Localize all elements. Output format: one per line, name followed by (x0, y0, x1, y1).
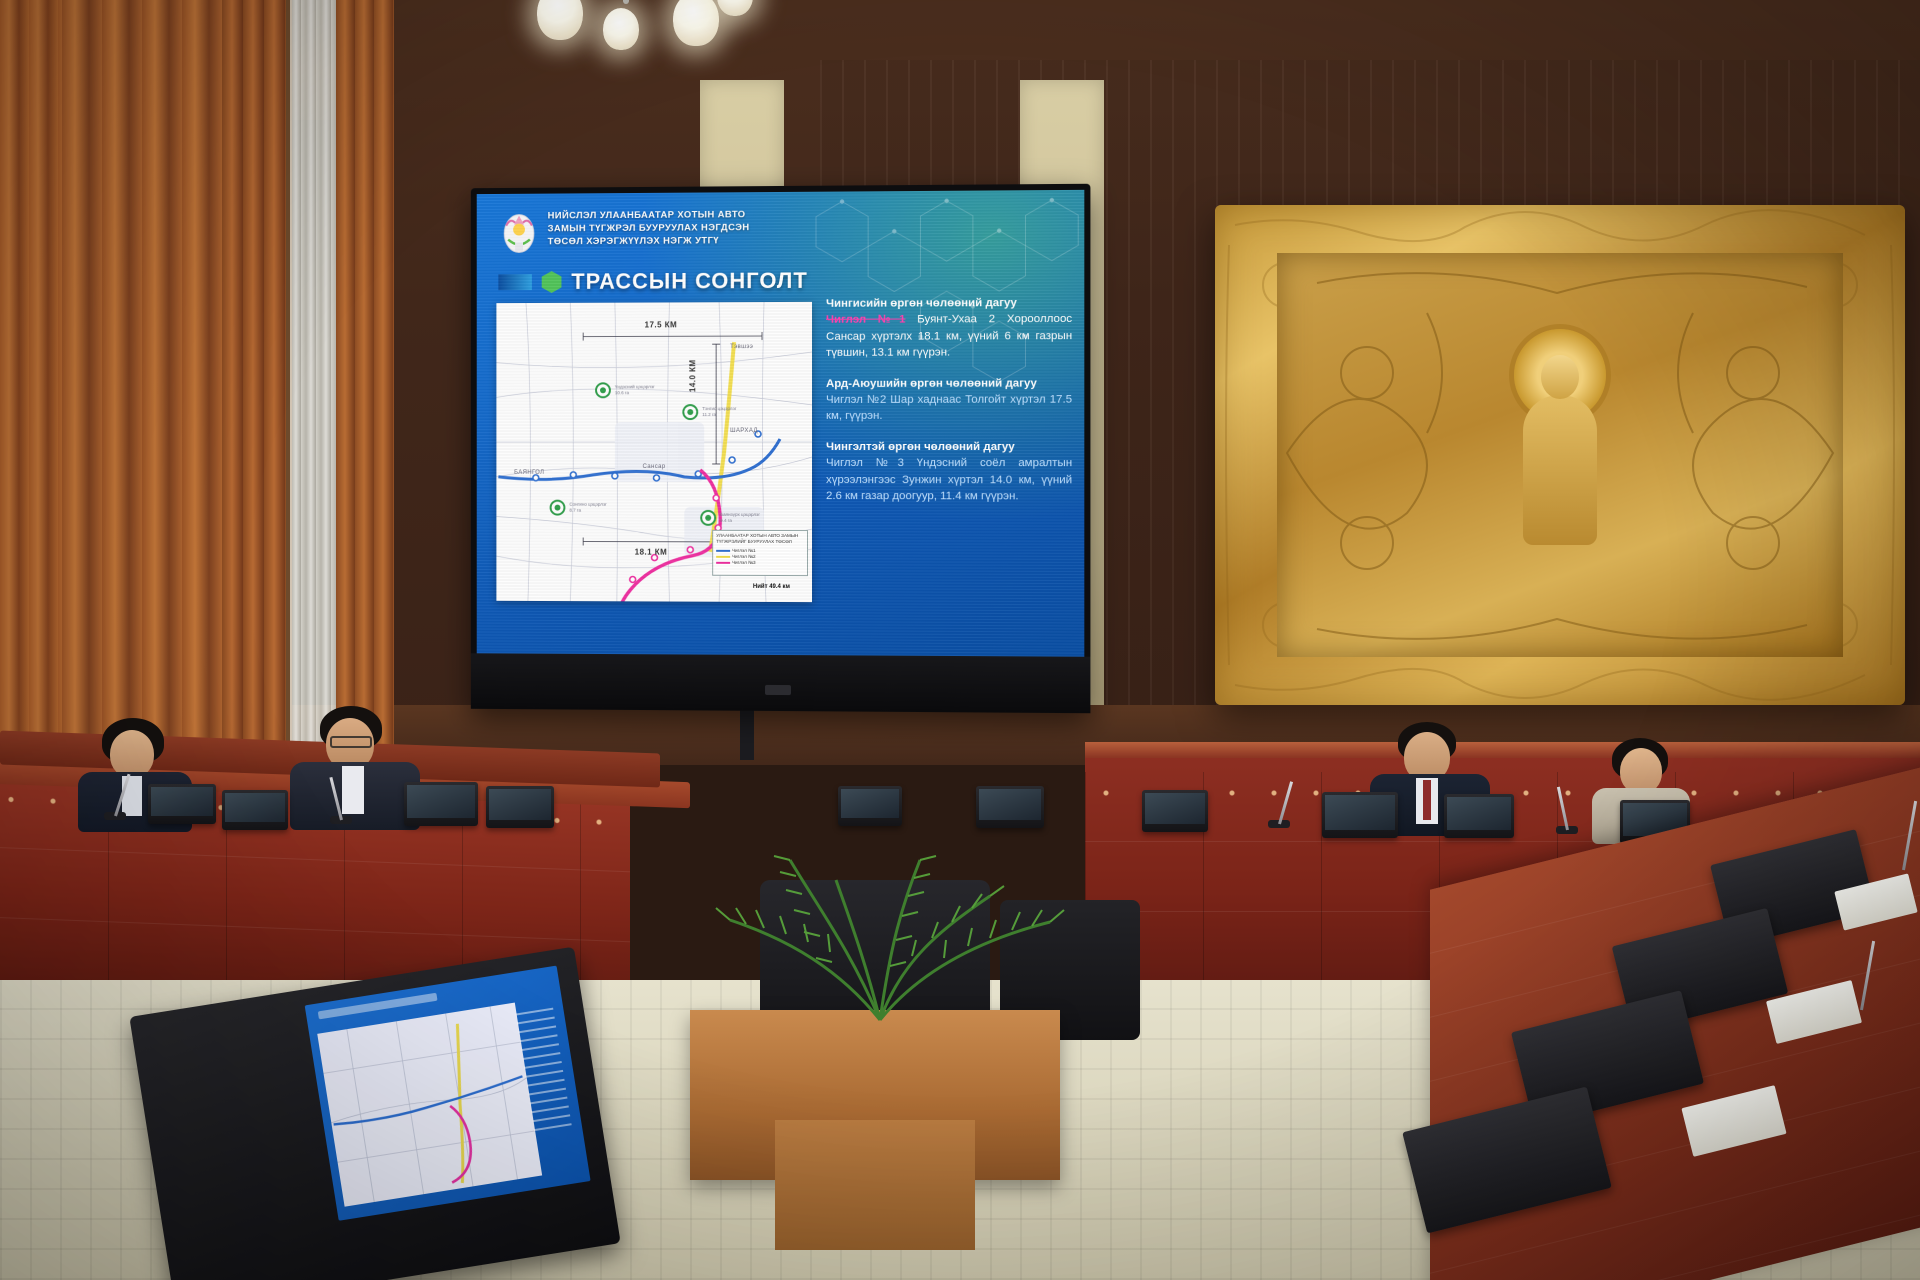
screen-brand-logo (765, 685, 791, 695)
shirt (342, 766, 364, 814)
lamp-bulb (603, 8, 639, 50)
section-1-strike-label: Чиглэл №1 (826, 314, 905, 326)
foreground-monitor-map (317, 1003, 542, 1207)
org-line-3: ТӨСӨЛ ХЭРЭГЖҮҮЛЭХ НЭГЖ УТГҮ (548, 234, 750, 248)
desk-monitor[interactable] (148, 784, 216, 824)
svg-text:8.7 га: 8.7 га (569, 508, 581, 513)
city-emblem-icon (500, 210, 537, 256)
title-accent-bar (498, 274, 531, 290)
svg-text:10.6 га: 10.6 га (615, 390, 630, 395)
necktie (1423, 780, 1431, 820)
svg-text:Тэнгис цэцэрлэг: Тэнгис цэцэрлэг (702, 406, 737, 411)
conference-hall-scene: НИЙСЛЭЛ УЛААНБААТАР ХОТЫН АВТО ЗАМЫН ТҮГ… (0, 0, 1920, 1280)
map-city-label: Тэвшээ (730, 344, 753, 350)
lamp-bulb (673, 0, 719, 46)
desk-monitor[interactable] (1142, 790, 1208, 832)
org-line-1: НИЙСЛЭЛ УЛААНБААТАР ХОТЫН АВТО (548, 208, 750, 222)
slide-header: НИЙСЛЭЛ УЛААНБААТАР ХОТЫН АВТО ЗАМЫН ТҮГ… (500, 208, 749, 255)
screen-bezel-chin (471, 653, 1091, 713)
lamp-bulb (717, 0, 753, 16)
section-1-body: Чиглэл №1 Буянт-Ухаа 2 Хорооллоос Сансар… (826, 311, 1072, 361)
deity-head (1541, 355, 1579, 399)
slide-text-column: Чингисийн өргөн чөлөөний дагуу Чиглэл №1… (826, 295, 1072, 641)
svg-text:9.4 га: 9.4 га (720, 518, 732, 523)
map-legend: УЛААНБААТАР ХОТЫН АВТО ЗАМЫН ТҮГЖРЭЛИЙГ … (712, 530, 808, 576)
slide-title: ТРАССЫН СОНГОЛТ (571, 268, 807, 295)
slide-content: НИЙСЛЭЛ УЛААНБААТАР ХОТЫН АВТО ЗАМЫН ТҮГ… (477, 190, 1085, 657)
svg-text:Үндэсний цэцэрлэг: Үндэсний цэцэрлэг (615, 383, 655, 389)
emblem-svg (500, 210, 537, 256)
curtain-panel-3 (222, 0, 292, 860)
hexagon-badge-icon (542, 271, 562, 293)
route-map: Үндэсний цэцэрлэг10.6 га Тэнгис цэцэрлэг… (496, 302, 812, 602)
section-3-text: Чиглэл №3 Үндэсний соёл амралтын хүрээлэ… (826, 455, 1072, 505)
dais-back-top-rail (1085, 742, 1920, 758)
map-city-label: ШАРХАД (730, 428, 758, 434)
map-dimension-vertical: 14.0 КМ (688, 359, 697, 392)
deity-relief-figure (1495, 303, 1625, 543)
map-legend-title: УЛААНБААТАР ХОТЫН АВТО ЗАМЫН ТҮГЖРЭЛИЙГ … (716, 533, 804, 545)
fern-leaves-icon (640, 800, 1120, 1030)
foreground-map-svg (317, 1003, 542, 1207)
lamp-bulb (537, 0, 583, 40)
section-2-text: Чиглэл №2 Шар хаднаас Толгойт хүртэл 17.… (826, 392, 1072, 425)
ceiling-chandelier (505, 0, 795, 80)
map-dimension-bottom: 18.1 КМ (635, 548, 668, 557)
deity-body (1523, 395, 1597, 545)
desk-monitor[interactable] (486, 786, 554, 828)
section-3-heading: Чингэлтэй өргөн чөлөөний дагуу (826, 439, 1072, 456)
planter-foliage (640, 800, 1120, 1030)
delegate-man-left (290, 706, 420, 826)
map-city-label: Сансар (643, 464, 666, 470)
presentation-screen[interactable]: НИЙСЛЭЛ УЛААНБААТАР ХОТЫН АВТО ЗАМЫН ТҮГ… (471, 184, 1091, 714)
head (110, 730, 154, 778)
map-dimension-top: 17.5 КМ (645, 320, 678, 329)
section-2-heading: Ард-Аюушийн өргөн чөлөөний дагуу (826, 375, 1072, 392)
foreground-monitor-screen[interactable] (305, 966, 591, 1221)
gilded-wood-carving-panel (1215, 205, 1905, 705)
section-1-heading: Чингисийн өргөн чөлөөний дагуу (826, 295, 1072, 312)
org-line-2: ЗАМЫН ТҮГЖРЭЛ БУУРУУЛАХ НЭГДСЭН (548, 221, 750, 235)
map-legend-total: Нийт 49.4 км (753, 584, 790, 590)
desk-monitor[interactable] (404, 782, 478, 826)
planter-pedestal (775, 1120, 975, 1250)
svg-text:Баянзүрх цэцэрлэг: Баянзүрх цэцэрлэг (720, 512, 760, 517)
desk-monitor[interactable] (1444, 794, 1514, 838)
slide-title-row: ТРАССЫН СОНГОЛТ (498, 268, 807, 295)
map-city-label: БАЯНГОЛ (514, 470, 544, 476)
eyeglasses-icon (330, 736, 372, 748)
svg-text:Сонгино цэцэрлэг: Сонгино цэцэрлэг (569, 502, 607, 507)
desk-monitor[interactable] (222, 790, 288, 830)
svg-text:11.2 га: 11.2 га (702, 412, 716, 417)
carving-inner-panel (1277, 253, 1843, 657)
desk-monitor[interactable] (1322, 792, 1398, 838)
organization-name: НИЙСЛЭЛ УЛААНБААТАР ХОТЫН АВТО ЗАМЫН ТҮГ… (548, 208, 750, 248)
